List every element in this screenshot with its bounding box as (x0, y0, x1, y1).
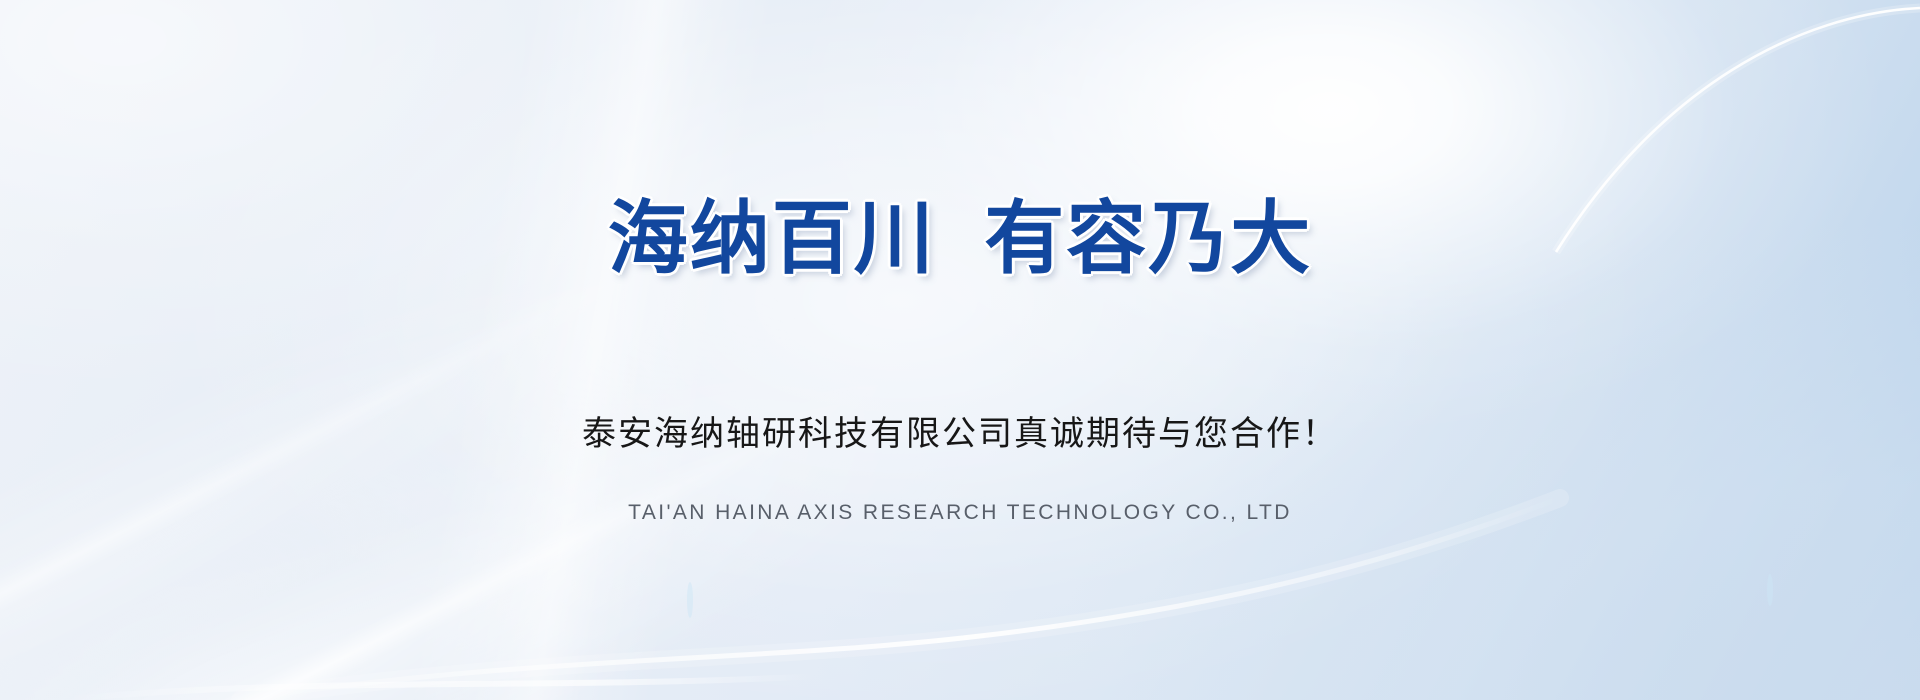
banner-content: 海纳百川 有容乃大 泰安海纳轴研科技有限公司真诚期待与您合作！ TAI'AN H… (0, 0, 1920, 700)
page-title: 海纳百川 有容乃大 (608, 196, 1312, 282)
company-tagline-cn: 泰安海纳轴研科技有限公司真诚期待与您合作！ (582, 406, 1338, 455)
company-name-en: TAI'AN HAINA AXIS RESEARCH TECHNOLOGY CO… (628, 501, 1292, 525)
hero-banner: 海纳百川 有容乃大 泰安海纳轴研科技有限公司真诚期待与您合作！ TAI'AN H… (0, 0, 1920, 700)
